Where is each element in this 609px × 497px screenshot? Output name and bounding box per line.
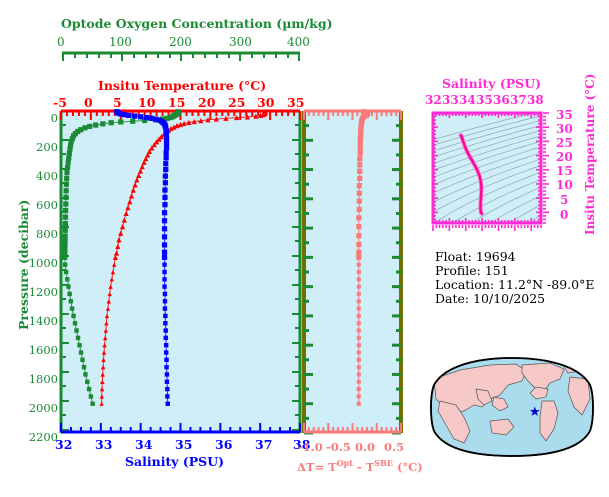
profile-label: Profile:	[435, 263, 481, 278]
oxygen-tick-label: 300	[229, 36, 252, 48]
pressure-tick-label: 1200	[29, 285, 58, 299]
salinity-axis-title: Salinity (PSU)	[125, 456, 224, 469]
pressure-tick-label: 600	[36, 198, 58, 212]
oxygen-tick-label: 400	[287, 36, 310, 48]
ts-temperature-ticks-labels: 35 30 25 20 15 10 5 0	[556, 108, 578, 224]
salinity-tick-label: 37	[255, 437, 272, 452]
ts-sal-tick-label: 38	[527, 93, 544, 107]
ts-temp-tick-label: 20	[556, 150, 573, 164]
pressure-tick-label: 1000	[29, 256, 58, 270]
dt-title-part1: ΔT= T	[297, 460, 337, 474]
salinity-tick-label: 32	[55, 437, 72, 452]
float-value: 19694	[476, 249, 516, 264]
pressure-tick-label: 800	[36, 227, 58, 241]
oxygen-axis-ruler	[61, 50, 301, 62]
ts-temp-tick-label: 30	[556, 122, 573, 136]
ts-sal-tick-label: 37	[510, 93, 527, 107]
dt-tick-label: 0.0	[355, 440, 375, 454]
ts-salinity-ticks-labels: 32 33 34 35 36 37 38	[425, 93, 550, 108]
dt-tick-label: -1.0	[298, 440, 323, 454]
location-label: Location:	[435, 277, 494, 292]
pressure-tick-label: 400	[36, 169, 58, 183]
pressure-tick-label: 0	[51, 111, 58, 125]
pressure-tick-label: 1400	[29, 314, 58, 328]
date-value: 10/10/2025	[473, 291, 545, 306]
profile-value: 151	[485, 263, 509, 278]
dt-title-part2: - T	[353, 460, 374, 474]
ts-sal-tick-label: 34	[459, 93, 476, 107]
salinity-tick-label: 33	[95, 437, 112, 452]
ts-sal-tick-label: 32	[425, 93, 442, 107]
dt-title-part3: (°C)	[393, 460, 423, 474]
temperature-axis-title: Insitu Temperature (°C)	[98, 80, 266, 93]
main-profile-panel[interactable]	[59, 108, 303, 438]
dt-tick-label: 0.5	[384, 440, 404, 454]
dt-tick-label: -0.5	[326, 440, 351, 454]
ts-temp-tick-label: 10	[556, 178, 573, 192]
delta-t-panel[interactable]	[298, 108, 410, 438]
ts-sal-tick-label: 33	[442, 93, 459, 107]
pressure-tick-label: 200	[36, 140, 58, 154]
world-map[interactable]	[430, 355, 595, 460]
pressure-tick-label: 2000	[29, 401, 58, 415]
salinity-axis: 32 33 34 35 36 37 38	[61, 437, 301, 453]
float-label: Float:	[435, 249, 472, 264]
ts-sal-tick-label: 35	[476, 93, 493, 107]
pressure-tick-label: 1600	[29, 343, 58, 357]
salinity-tick-label: 34	[135, 437, 152, 452]
ts-temp-tick-label: 0	[560, 208, 568, 222]
metadata-block: Float: 19694 Profile: 151 Location: 11.2…	[435, 250, 595, 306]
metadata-date-row: Date: 10/10/2025	[435, 292, 595, 306]
oxygen-tick-label: 200	[169, 36, 192, 48]
metadata-profile-row: Profile: 151	[435, 264, 595, 278]
ts-temp-tick-label: 25	[556, 136, 573, 150]
ts-diagram-panel[interactable]	[428, 108, 552, 233]
ts-sal-tick-label: 36	[493, 93, 510, 107]
pressure-tick-label: 2200	[29, 430, 58, 444]
location-value: 11.2°N -89.0°E	[498, 277, 594, 292]
ts-temp-tick-label: 5	[560, 193, 568, 207]
pressure-tick-label: 1800	[29, 372, 58, 386]
oxygen-tick-label: 0	[57, 36, 65, 48]
oxygen-axis: 0 100 200 300 400	[61, 36, 301, 62]
salinity-tick-label: 35	[175, 437, 192, 452]
delta-t-axis-title: ΔT= TOpt - TSBE (°C)	[297, 459, 423, 473]
metadata-float-row: Float: 19694	[435, 250, 595, 264]
dt-title-sup-sbe: SBE	[374, 458, 393, 468]
ts-temp-tick-label: 35	[556, 108, 573, 122]
pressure-axis-title: Pressure (decibar)	[18, 200, 31, 330]
ts-temp-tick-label: 15	[556, 164, 573, 178]
ts-salinity-title: Salinity (PSU)	[442, 78, 541, 91]
oxygen-axis-title: Optode Oxygen Concentration (µm/kg)	[61, 18, 332, 31]
date-label: Date:	[435, 291, 469, 306]
salinity-tick-label: 36	[215, 437, 232, 452]
metadata-location-row: Location: 11.2°N -89.0°E	[435, 278, 595, 292]
delta-t-axis-labels: -1.0 -0.5 0.0 0.5	[298, 440, 410, 456]
dt-title-sup-opt: Opt	[337, 458, 353, 468]
oxygen-tick-label: 100	[109, 36, 132, 48]
ts-temperature-title: Insitu Temperature (°C)	[584, 74, 596, 235]
